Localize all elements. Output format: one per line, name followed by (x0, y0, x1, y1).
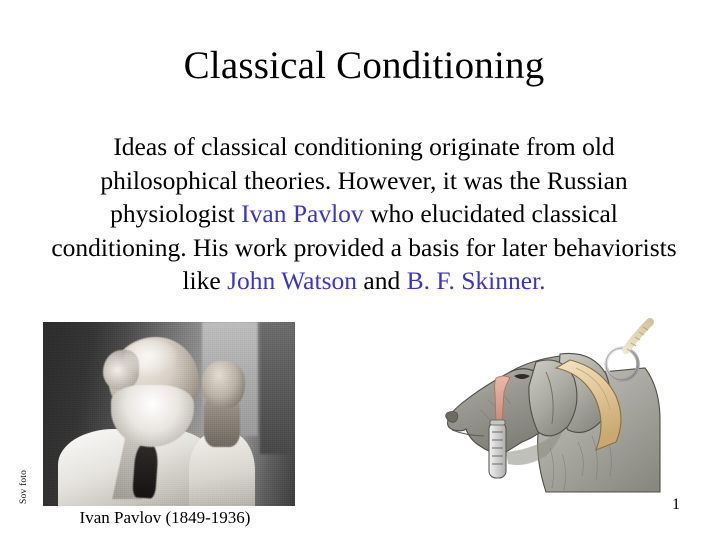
photo-credit: Sov foto (19, 470, 29, 504)
photo-caption: Ivan Pavlov (1849-1936) (0, 508, 330, 528)
pavlov-photograph (43, 322, 295, 506)
tube-cap (490, 420, 505, 425)
link-john-watson[interactable]: John Watson (227, 266, 357, 295)
link-bf-skinner[interactable]: B. F. Skinner. (407, 266, 546, 295)
leash-rope (626, 322, 650, 350)
slide-canvas: Classical Conditioning Ideas of classica… (0, 0, 728, 546)
saliva-collection-tube (489, 422, 506, 478)
link-ivan-pavlov[interactable]: Ivan Pavlov (241, 199, 364, 228)
pavlov-dog-illustration (410, 316, 710, 512)
page-title: Classical Conditioning (0, 44, 728, 88)
pavlov-photo-figure: Sov foto (43, 322, 295, 506)
page-number: 1 (672, 496, 680, 514)
photo-film-grain (43, 322, 295, 506)
body-text-segment-3: and (357, 266, 407, 295)
body-paragraph: Ideas of classical conditioning originat… (42, 130, 686, 298)
